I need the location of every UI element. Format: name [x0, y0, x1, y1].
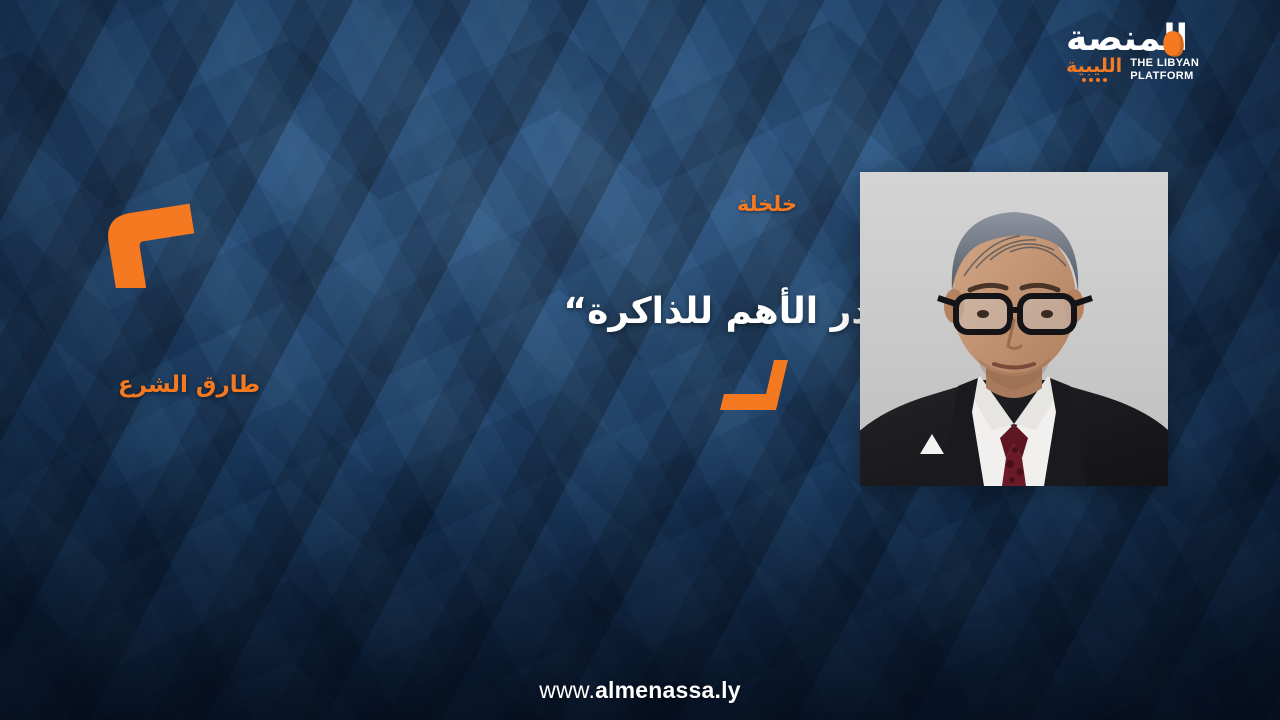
article-kicker: خلخلة: [737, 192, 797, 216]
logo-secondary-row: THE LIBYAN PLATFORM الليبية: [1066, 57, 1199, 82]
url-prefix: www.: [539, 677, 595, 703]
footer-website-url[interactable]: www.almenassa.ly: [0, 677, 1280, 704]
logo-arabic-wordmark: المنصة: [1066, 22, 1188, 56]
logo-english-line2: PLATFORM: [1130, 70, 1199, 82]
portrait-illustration: [860, 172, 1168, 486]
author-portrait-photo: [860, 172, 1168, 486]
logo-sub-text: الليبية: [1066, 57, 1122, 76]
url-suffix: .ly: [715, 677, 741, 703]
logo-sub-wrap: الليبية: [1066, 57, 1122, 82]
quote-bracket-large-icon: [100, 196, 204, 288]
url-brand: almenassa: [595, 677, 714, 703]
brand-logo[interactable]: المنصة THE LIBYAN PLATFORM الليبية: [1066, 22, 1246, 100]
article-author: طارق الشرع: [118, 372, 260, 398]
poster-canvas: المنصة THE LIBYAN PLATFORM الليبية خلخلة…: [0, 0, 1280, 720]
logo-english-line1: THE LIBYAN: [1130, 57, 1199, 69]
logo-english-text: THE LIBYAN PLATFORM: [1130, 57, 1199, 82]
quote-bracket-small-icon: [718, 358, 796, 420]
logo-dots-icon: [1066, 78, 1122, 82]
